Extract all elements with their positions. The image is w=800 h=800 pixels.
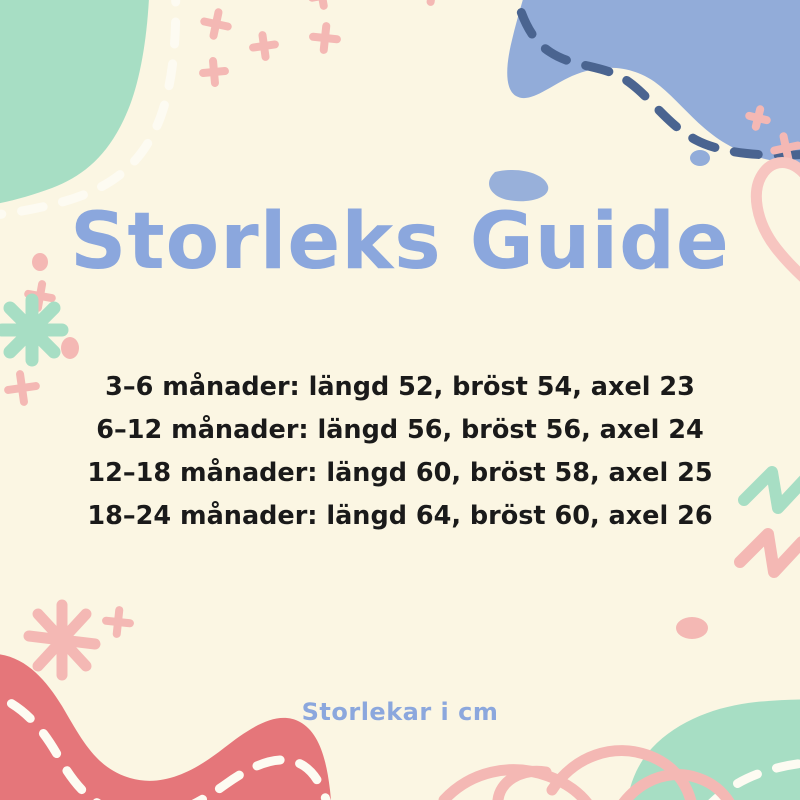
unit-note: Storlekar i cm	[0, 698, 800, 726]
page-title: Storleks Guide	[0, 202, 800, 284]
size-row: 3–6 månader: längd 52, bröst 54, axel 23	[0, 366, 800, 409]
size-chart-list: 3–6 månader: längd 52, bröst 54, axel 23…	[0, 366, 800, 538]
size-row: 18–24 månader: längd 64, bröst 60, axel …	[0, 495, 800, 538]
size-row: 12–18 månader: längd 60, bröst 58, axel …	[0, 452, 800, 495]
size-row: 6–12 månader: längd 56, bröst 56, axel 2…	[0, 409, 800, 452]
size-guide-poster: Storleks Guide 3–6 månader: längd 52, br…	[0, 0, 800, 800]
poster-content: Storleks Guide 3–6 månader: längd 52, br…	[0, 0, 800, 800]
